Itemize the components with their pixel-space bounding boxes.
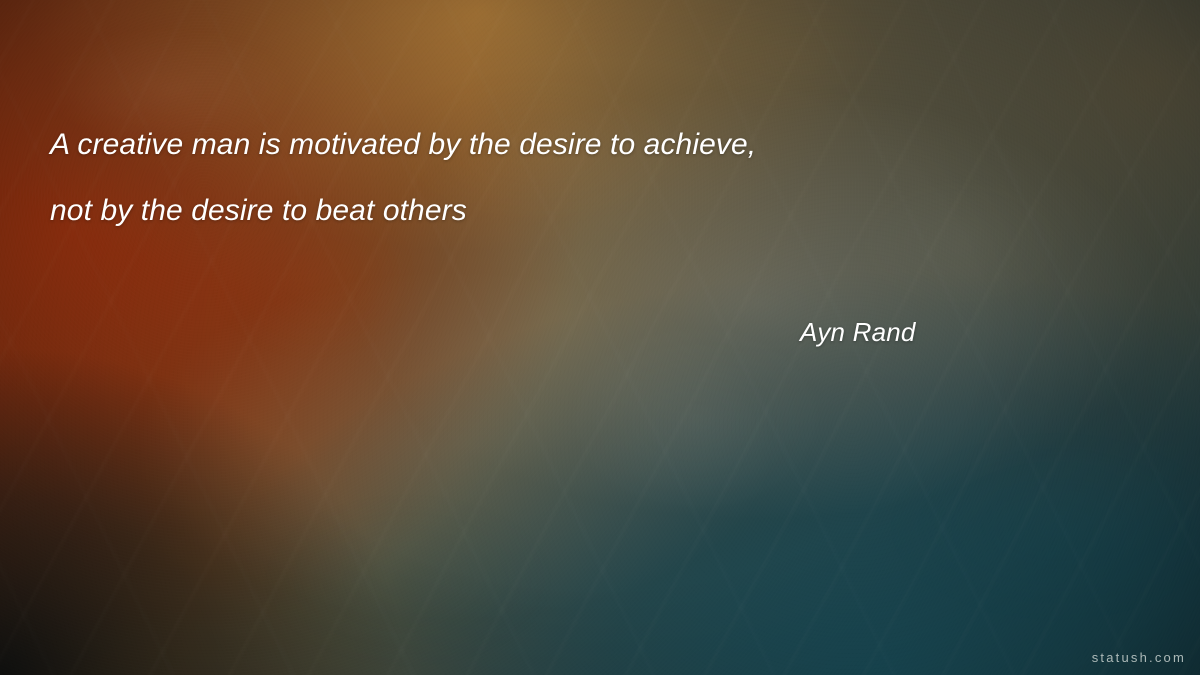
background-dark-corner bbox=[0, 0, 1200, 675]
background-teal-pool bbox=[0, 0, 1200, 675]
quote-author: Ayn Rand bbox=[800, 317, 916, 348]
background-smoke-band bbox=[0, 0, 1200, 675]
quote-text: A creative man is motivated by the desir… bbox=[50, 112, 1050, 244]
background-grain bbox=[0, 0, 1200, 675]
quote-card: A creative man is motivated by the desir… bbox=[0, 0, 1200, 675]
background-amber-haze bbox=[0, 0, 1200, 675]
quote-line-2: not by the desire to beat others bbox=[50, 178, 1050, 244]
quote-line-1: A creative man is motivated by the desir… bbox=[50, 112, 1050, 178]
background-mottled-texture bbox=[0, 0, 1200, 675]
background-olive-field bbox=[0, 0, 1200, 675]
background-base-gradient bbox=[0, 0, 1200, 675]
background-smoke-wisps bbox=[0, 0, 1200, 675]
background-vignette bbox=[0, 0, 1200, 675]
site-watermark: statush.com bbox=[1092, 650, 1186, 665]
background-rust-bloom bbox=[0, 0, 1200, 675]
